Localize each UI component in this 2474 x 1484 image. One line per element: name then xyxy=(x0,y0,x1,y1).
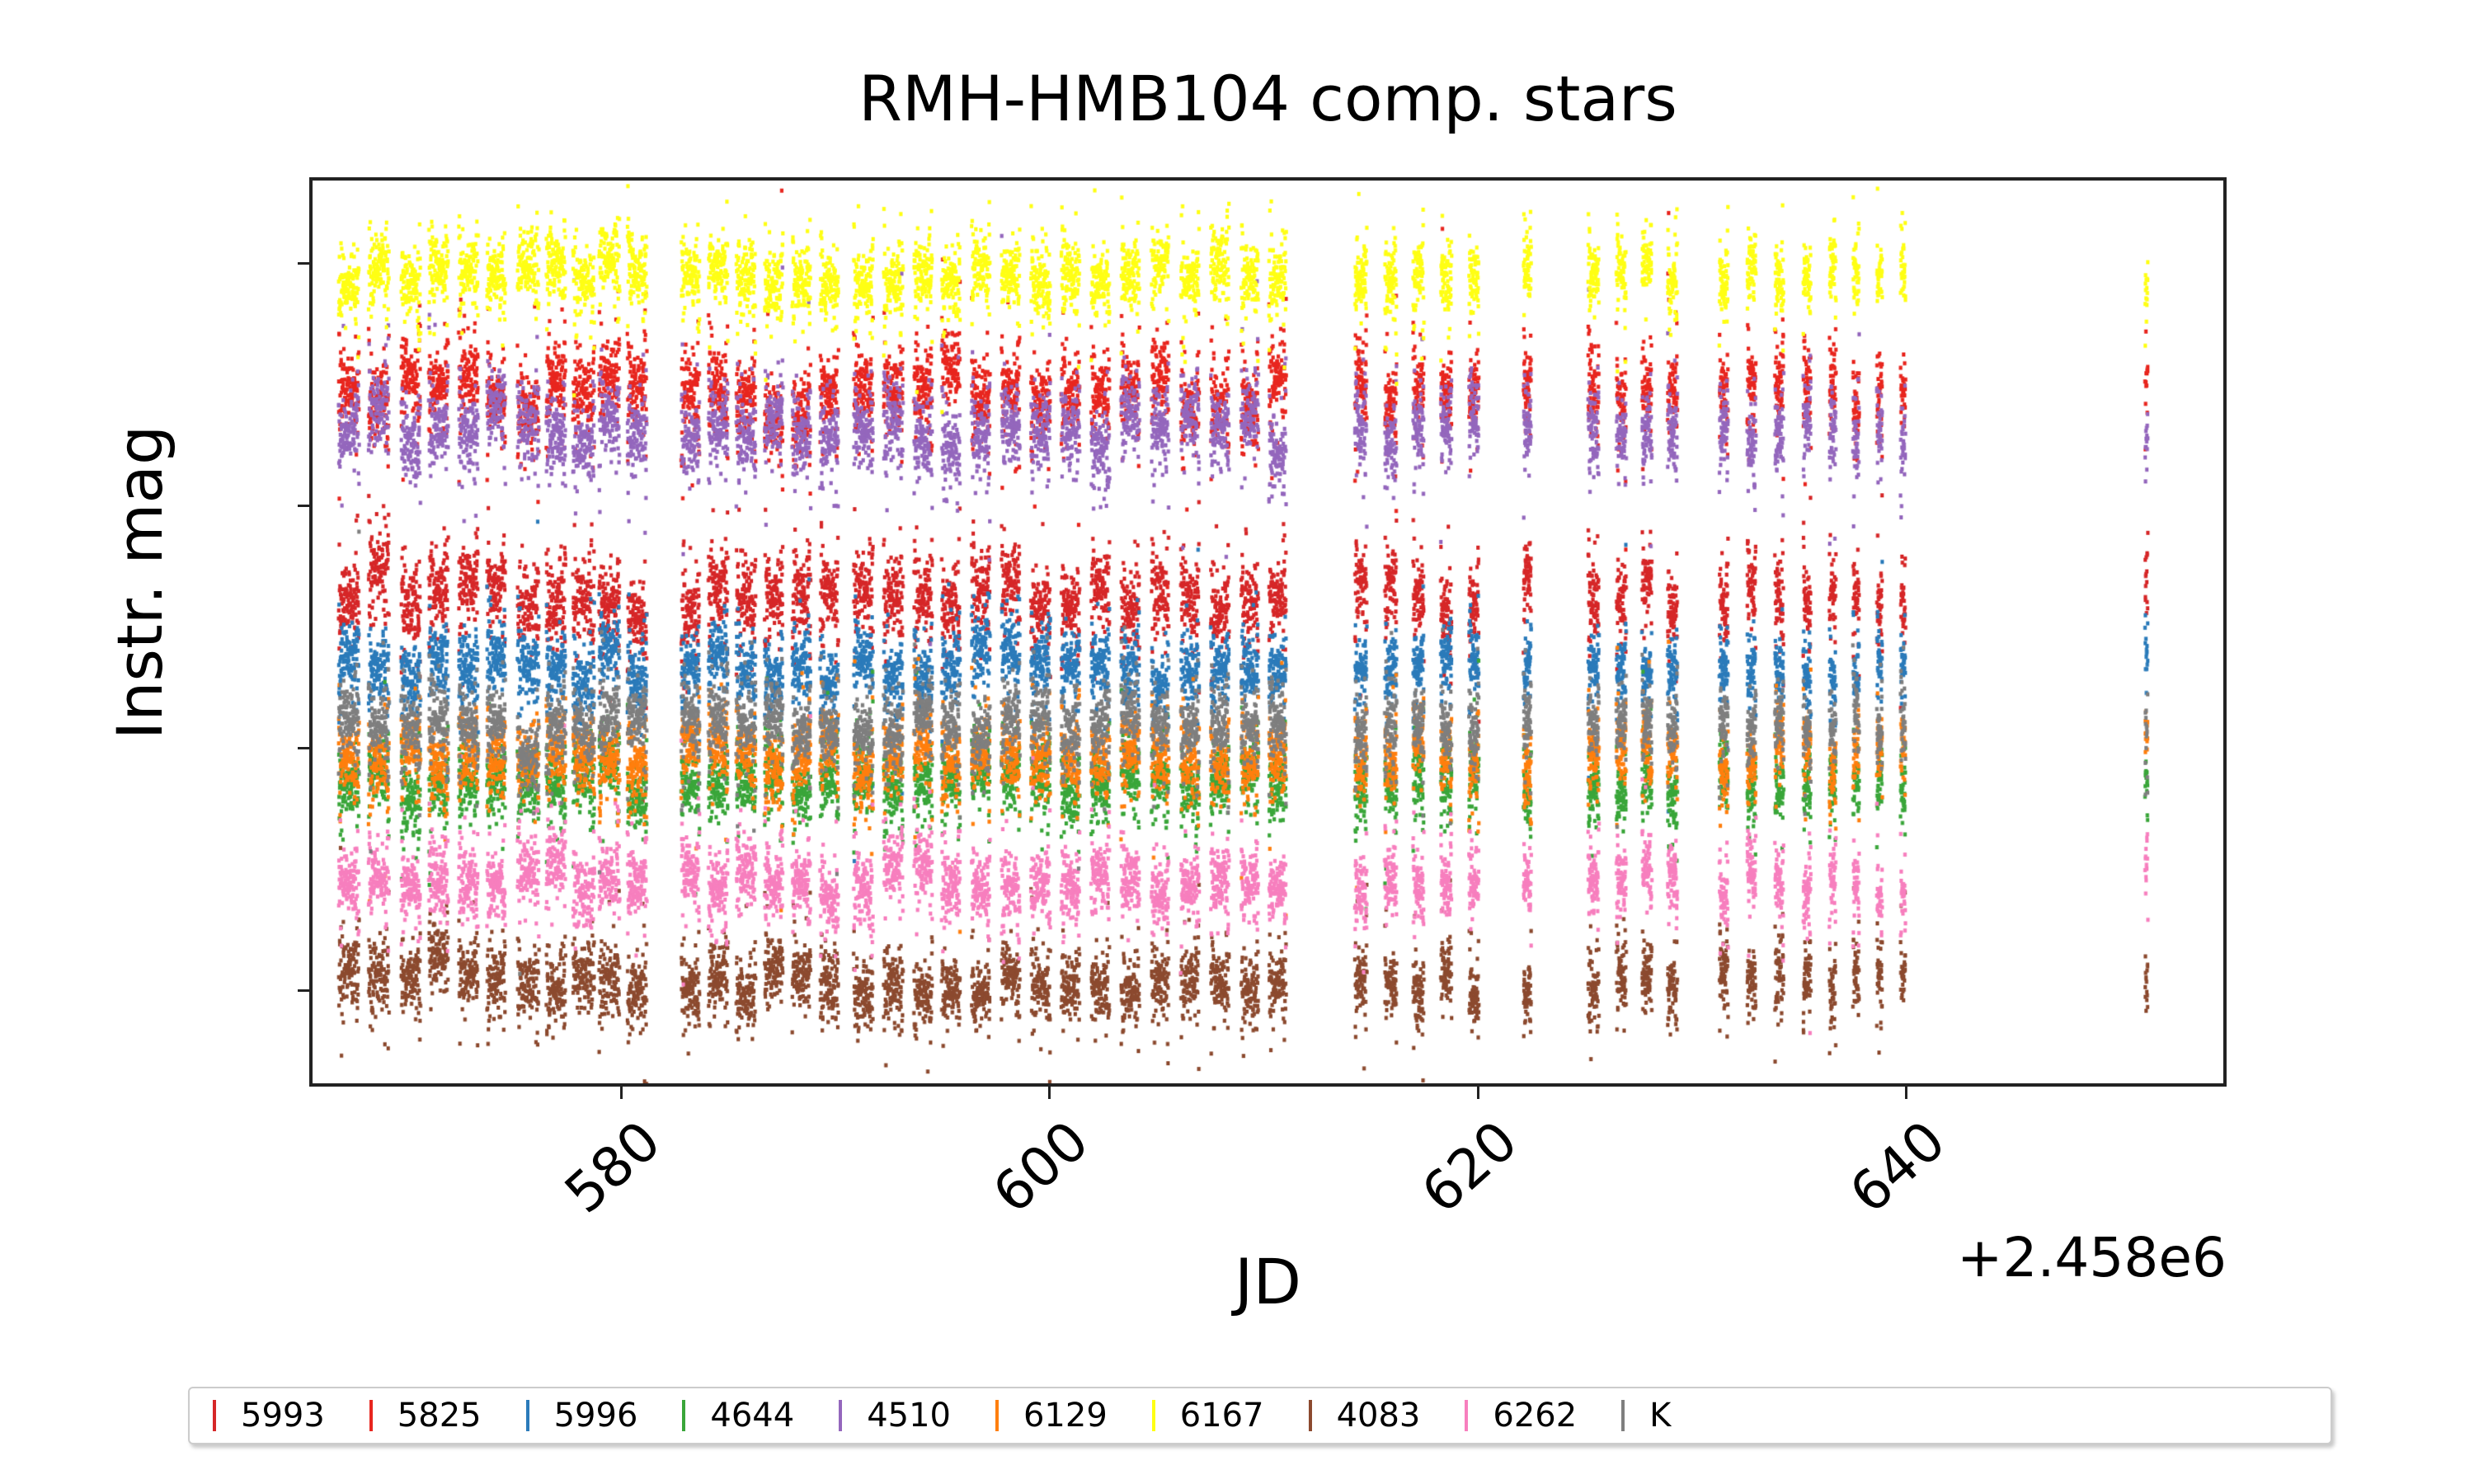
legend-label: 4644 xyxy=(710,1397,794,1435)
legend-item[interactable]: 5996 xyxy=(513,1397,638,1435)
x-tick-mark xyxy=(1477,1087,1479,1099)
chart-legend[interactable]: 599358255996464445106129616740836262K xyxy=(188,1387,2332,1444)
legend-color-swatch xyxy=(995,1400,999,1431)
legend-color-swatch xyxy=(1465,1400,1468,1431)
legend-item[interactable]: 4083 xyxy=(1296,1397,1421,1435)
legend-label: K xyxy=(1649,1397,1671,1435)
legend-color-swatch xyxy=(1152,1400,1155,1431)
legend-item[interactable]: K xyxy=(1608,1397,1671,1435)
legend-item[interactable]: 5825 xyxy=(356,1397,482,1435)
legend-label: 5996 xyxy=(554,1397,638,1435)
legend-label: 6167 xyxy=(1180,1397,1264,1435)
y-axis-label: Instr. mag xyxy=(103,128,176,1037)
legend-color-swatch xyxy=(213,1400,216,1431)
x-axis-label: JD xyxy=(309,1245,2227,1318)
legend-item[interactable]: 5993 xyxy=(200,1397,325,1435)
y-tick-mark xyxy=(298,747,309,749)
legend-item[interactable]: 6262 xyxy=(1451,1397,1577,1435)
y-tick-mark xyxy=(298,505,309,507)
y-tick-mark xyxy=(298,989,309,992)
x-axis-offset-text: +2.458e6 xyxy=(1957,1226,2227,1289)
plot-axes[interactable] xyxy=(309,177,2227,1087)
legend-label: 6262 xyxy=(1493,1397,1577,1435)
legend-color-swatch xyxy=(1621,1400,1625,1431)
x-tick-label: 600 xyxy=(979,1109,1101,1228)
figure-canvas: RMH-HMB104 comp. stars Instr. mag 17.417… xyxy=(0,0,2474,1484)
legend-label: 5993 xyxy=(241,1397,325,1435)
page-title: RMH-HMB104 comp. stars xyxy=(309,68,2227,130)
x-tick-label: 580 xyxy=(550,1109,672,1228)
x-tick-mark xyxy=(620,1087,623,1099)
legend-item[interactable]: 6167 xyxy=(1139,1397,1264,1435)
x-tick-label: 620 xyxy=(1407,1109,1529,1228)
legend-label: 4083 xyxy=(1337,1397,1421,1435)
legend-color-swatch xyxy=(839,1400,842,1431)
legend-color-swatch xyxy=(369,1400,373,1431)
x-tick-label: 640 xyxy=(1836,1109,1958,1228)
legend-item[interactable]: 4510 xyxy=(825,1397,951,1435)
x-tick-mark xyxy=(1905,1087,1907,1099)
y-tick-mark xyxy=(298,262,309,265)
legend-color-swatch xyxy=(1309,1400,1312,1431)
legend-color-swatch xyxy=(526,1400,529,1431)
legend-label: 5825 xyxy=(397,1397,482,1435)
scatter-plot-canvas[interactable] xyxy=(313,181,2223,1083)
legend-label: 4510 xyxy=(867,1397,951,1435)
x-tick-mark xyxy=(1048,1087,1051,1099)
legend-color-swatch xyxy=(682,1400,685,1431)
legend-label: 6129 xyxy=(1023,1397,1108,1435)
legend-item[interactable]: 6129 xyxy=(982,1397,1108,1435)
legend-item[interactable]: 4644 xyxy=(669,1397,794,1435)
